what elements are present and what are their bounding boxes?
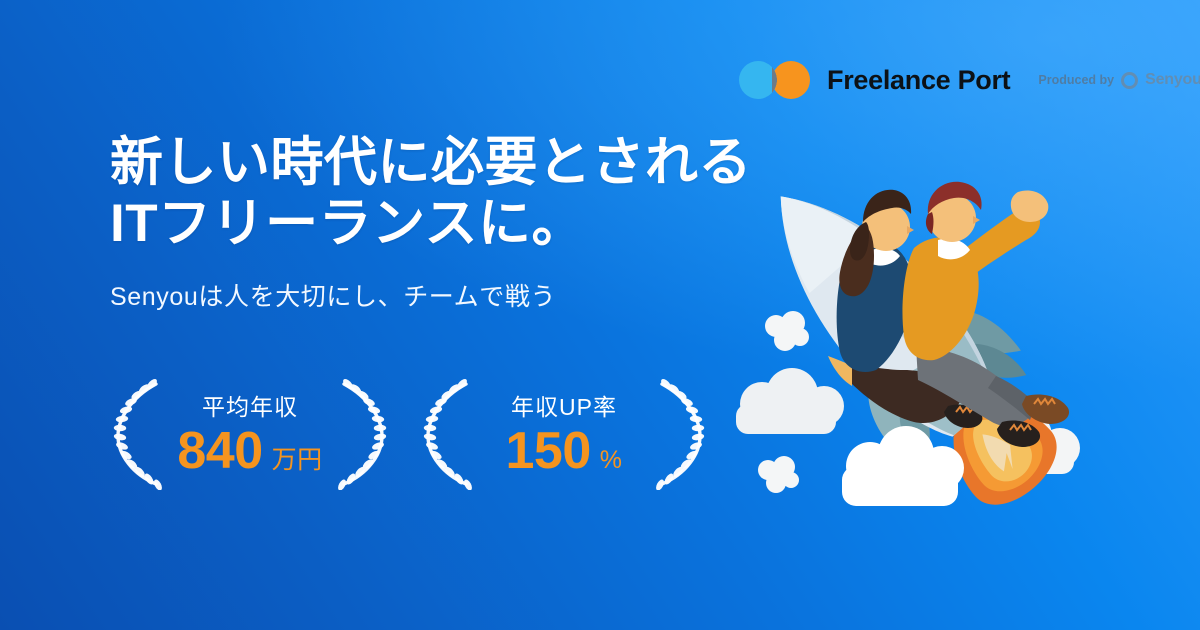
stat-body: 年収UP率 150 %: [472, 378, 656, 490]
senyou-ring-icon: [1121, 72, 1138, 89]
stat-number: 150: [506, 424, 591, 479]
stat-body: 平均年収 840 万円: [162, 378, 338, 490]
cloud-shape-front: [842, 426, 964, 506]
stat-value-group: 150 %: [506, 424, 623, 479]
hero-subline: Senyouは人を大切にし、チームで戦う: [110, 277, 752, 313]
stat-label: 平均年収: [202, 388, 298, 422]
stat-value-group: 840 万円: [177, 424, 322, 479]
hero-banner: Freelance Port Produced by Senyou 新しい時代に…: [0, 0, 1200, 630]
brand-name: Freelance Port: [827, 65, 1010, 96]
hero-copy: 新しい時代に必要とされる ITフリーランスに。 Senyouは人を大切にし、チー…: [110, 132, 752, 313]
senyou-name: Senyou: [1145, 71, 1200, 89]
laurel-wreath-icon: [420, 378, 478, 490]
brand-logo-bar[interactable]: Freelance Port Produced by Senyou: [739, 61, 1200, 99]
headline-line-1: 新しい時代に必要とされる: [110, 132, 752, 193]
laurel-wreath-icon: [110, 378, 168, 490]
stat-unit: %: [600, 446, 623, 475]
headline-line-2: ITフリーランスに。: [110, 193, 752, 254]
stat-label: 年収UP率: [511, 388, 617, 422]
laurel-wreath-icon: [650, 378, 708, 490]
stats-row: 平均年収 840 万円: [104, 378, 714, 490]
laurel-wreath-icon: [332, 378, 390, 490]
stat-income-up-rate: 年収UP率 150 %: [414, 378, 714, 490]
stat-average-income: 平均年収 840 万円: [104, 378, 396, 490]
two-overlapping-circles-icon: [739, 61, 813, 99]
rocket-with-two-people-icon: [700, 130, 1120, 510]
produced-by-label: Produced by: [1038, 73, 1114, 87]
stat-number: 840: [177, 424, 262, 479]
stat-unit: 万円: [272, 440, 323, 476]
produced-by-block: Produced by Senyou: [1038, 71, 1200, 89]
